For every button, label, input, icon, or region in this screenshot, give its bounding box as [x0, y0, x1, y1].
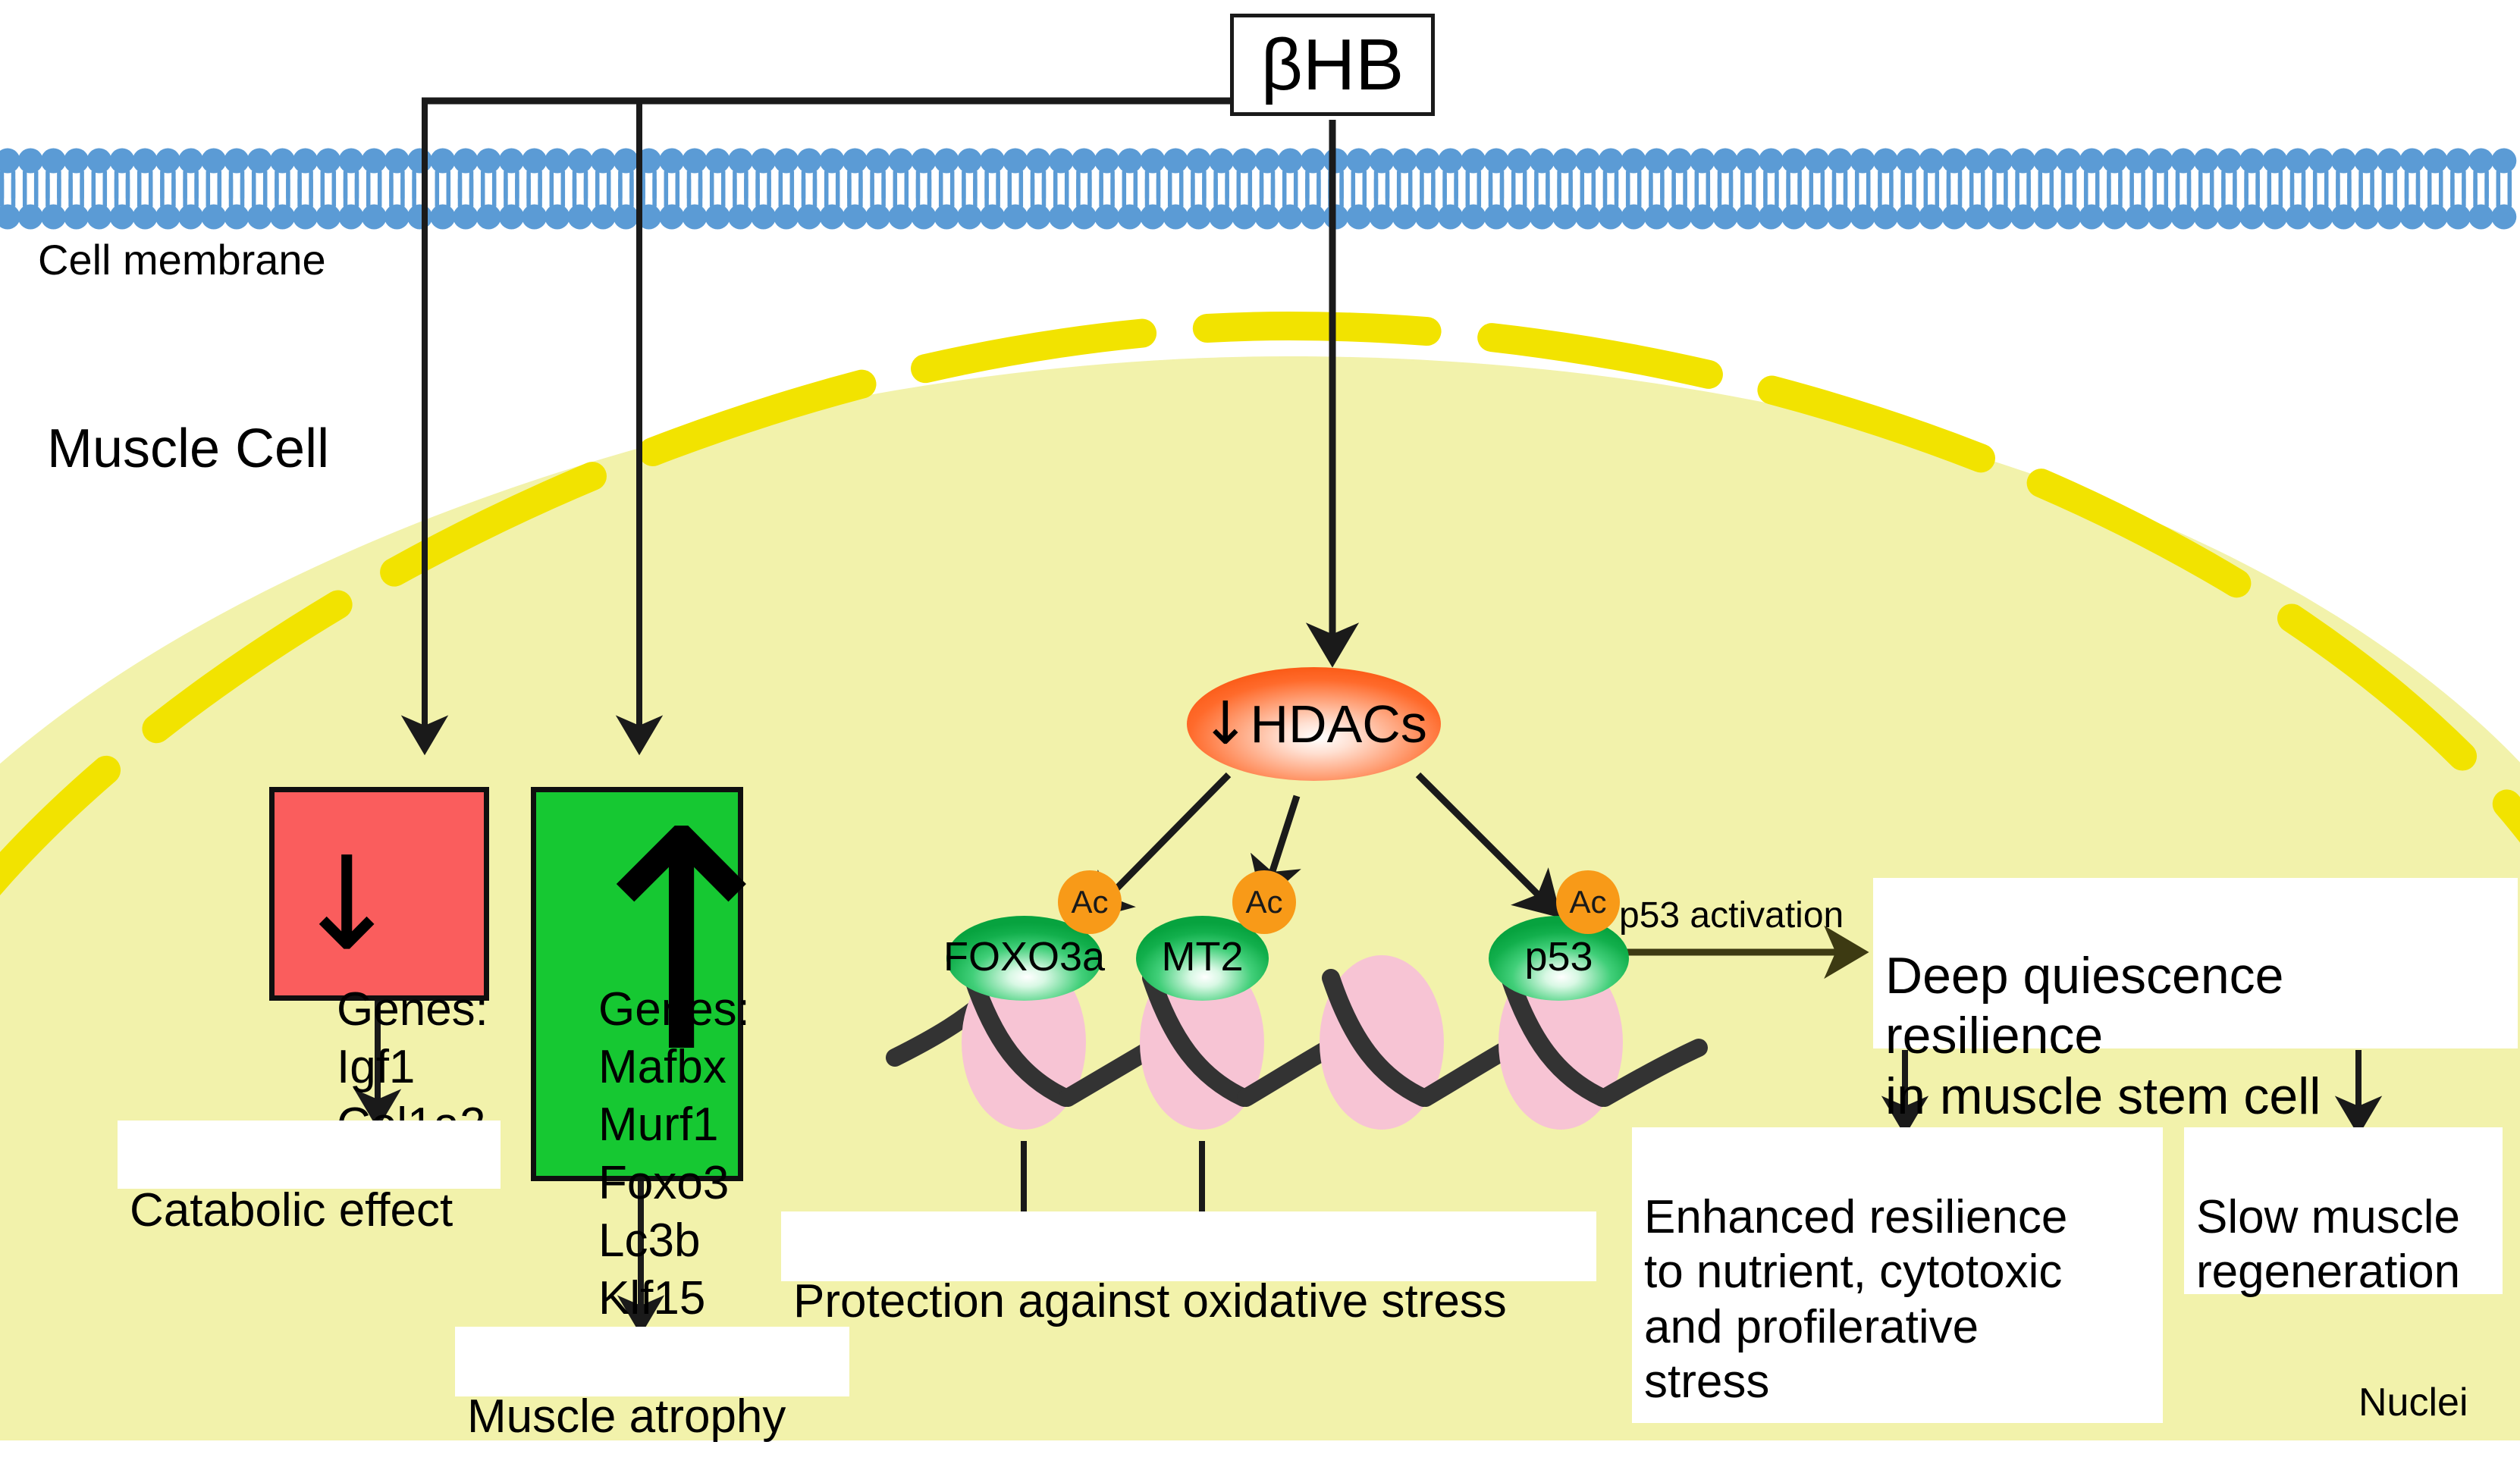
muscle-atrophy-label: Muscle atrophy: [467, 1390, 786, 1443]
phospholipid-bilayer-icon: [0, 149, 2516, 230]
acetyl-group-mt2[interactable]: Ac: [1232, 870, 1296, 934]
muscle-cell-label: Muscle Cell: [47, 418, 329, 480]
down-arrow-icon: ↓: [1200, 701, 1250, 748]
nuclei-label: Nuclei: [2358, 1380, 2468, 1425]
protein-p53[interactable]: p53: [1489, 916, 1629, 1001]
slow-regeneration-label: Slow muscle regeneration: [2196, 1191, 2460, 1299]
down-arrow-icon: ↓: [293, 865, 400, 945]
bhb-label: βHB: [1261, 24, 1404, 107]
oxidative-stress-label: Protection against oxidative stress: [793, 1275, 1507, 1327]
slow-regeneration-box: Slow muscle regeneration: [2184, 1127, 2503, 1294]
catabolic-effect-label: Catabolic effect: [130, 1184, 453, 1236]
acetyl-label: Ac: [1245, 884, 1282, 920]
diagram-canvas: βHB Cell membrane Muscle Cell Nuclei ↓ H…: [0, 0, 2520, 1470]
hdacs-node[interactable]: ↓ HDACs: [1187, 667, 1441, 781]
upregulated-genes-box[interactable]: ↑ Genes: Mafbx Murf1 Foxo3 Lc3b Klf15: [531, 787, 743, 1181]
protein-p53-label: p53: [1524, 933, 1593, 980]
deep-quiescence-box: Deep quiescence resilience in muscle ste…: [1873, 878, 2518, 1048]
bhb-ligand-box[interactable]: βHB: [1230, 14, 1435, 116]
acetyl-label: Ac: [1071, 884, 1108, 920]
cell-membrane-label: Cell membrane: [38, 235, 326, 284]
protein-foxo3a-label: FOXO3a: [943, 933, 1105, 980]
deep-quiescence-label: Deep quiescence resilience in muscle ste…: [1885, 947, 2321, 1125]
catabolic-effect-box: Catabolic effect: [118, 1121, 501, 1189]
enhanced-resilience-box: Enhanced resilience to nutrient, cytotox…: [1632, 1127, 2163, 1423]
oxidative-stress-box: Protection against oxidative stress: [781, 1211, 1596, 1281]
protein-mt2-label: MT2: [1162, 933, 1244, 980]
acetyl-label: Ac: [1569, 884, 1606, 920]
p53-activation-label: p53 activation: [1619, 895, 1844, 936]
downregulated-genes-box[interactable]: ↓ Genes: Igf1 Col1a2: [269, 787, 489, 1001]
enhanced-resilience-label: Enhanced resilience to nutrient, cytotox…: [1644, 1191, 2067, 1409]
acetyl-group-foxo3a[interactable]: Ac: [1058, 870, 1122, 934]
acetyl-group-p53[interactable]: Ac: [1556, 870, 1620, 934]
up-arrow-icon: ↑: [554, 862, 808, 1026]
hdacs-label: HDACs: [1251, 694, 1427, 754]
muscle-atrophy-box: Muscle atrophy: [455, 1327, 849, 1396]
